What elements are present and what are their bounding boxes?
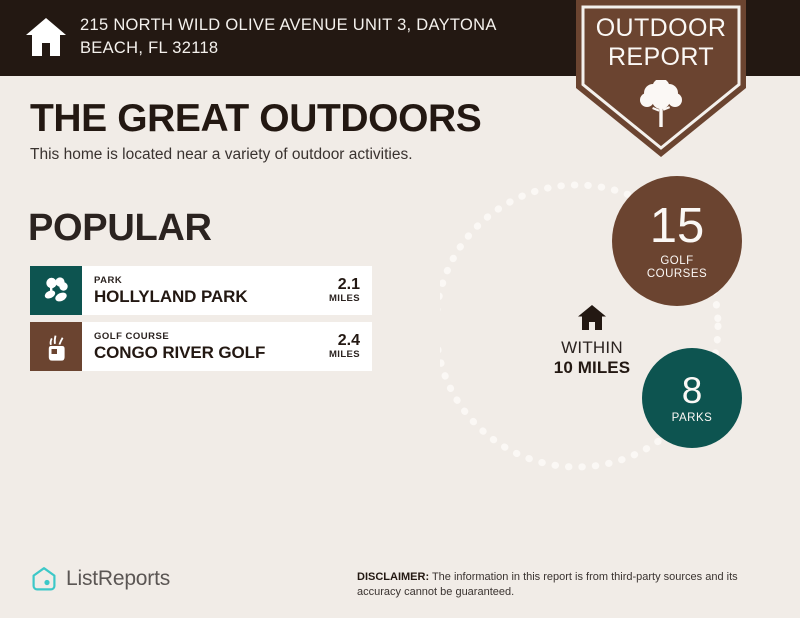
golf-bag-icon-box (30, 322, 82, 371)
list-item-distance: 2.1 MILES (310, 266, 372, 315)
listreports-house-icon (30, 565, 58, 593)
list-item-name: HOLLYLAND PARK (94, 287, 310, 306)
list-item[interactable]: PARK HOLLYLAND PARK 2.1 MILES (30, 266, 372, 315)
golf-bag-icon (41, 331, 71, 363)
list-item[interactable]: GOLF COURSE CONGO RIVER GOLF 2.4 MILES (30, 322, 372, 371)
stat-label: PARKS (672, 412, 713, 425)
park-trees-icon-box (30, 266, 82, 315)
stat-label: GOLF COURSES (647, 255, 707, 281)
stat-label-line2: COURSES (647, 268, 707, 281)
stat-label-line1: GOLF (647, 255, 707, 268)
home-icon (577, 304, 607, 331)
list-item-text: GOLF COURSE CONGO RIVER GOLF (82, 322, 310, 371)
within-radius-diagram: 15 GOLF COURSES 8 PARKS WITHIN 10 MILES (440, 176, 800, 476)
page-title: THE GREAT OUTDOORS (30, 97, 481, 141)
home-icon (24, 16, 68, 58)
badge-title-line2: REPORT (576, 43, 746, 72)
listreports-logo[interactable]: ListReports (30, 565, 170, 593)
park-trees-icon (41, 276, 71, 306)
list-item-distance-unit: MILES (329, 293, 360, 305)
radius-line1: WITHIN (512, 338, 672, 358)
list-item-category: PARK (94, 275, 310, 287)
list-item-distance-unit: MILES (329, 349, 360, 361)
list-item-text: PARK HOLLYLAND PARK (82, 266, 310, 315)
badge-title-line1: OUTDOOR (576, 14, 746, 43)
disclaimer-label: DISCLAIMER: (357, 571, 429, 583)
stat-count: 8 (682, 372, 703, 409)
list-item-distance: 2.4 MILES (310, 322, 372, 371)
badge-title: OUTDOOR REPORT (576, 14, 746, 72)
property-address: 215 NORTH WILD OLIVE AVENUE UNIT 3, DAYT… (80, 14, 550, 60)
stat-count: 15 (650, 202, 705, 251)
listreports-logo-text: ListReports (66, 567, 170, 591)
stat-bubble-golf-courses: 15 GOLF COURSES (612, 176, 742, 306)
popular-list: PARK HOLLYLAND PARK 2.1 MILES GOLF COURS… (30, 266, 372, 378)
list-item-distance-value: 2.4 (338, 332, 360, 349)
disclaimer: DISCLAIMER: The information in this repo… (357, 570, 777, 600)
radius-line2: 10 MILES (512, 358, 672, 378)
page-subtitle: This home is located near a variety of o… (30, 146, 413, 164)
popular-heading: POPULAR (28, 207, 212, 250)
radius-center-label: WITHIN 10 MILES (512, 304, 672, 378)
list-item-category: GOLF COURSE (94, 331, 310, 343)
tree-icon (640, 80, 682, 128)
list-item-distance-value: 2.1 (338, 276, 360, 293)
list-item-name: CONGO RIVER GOLF (94, 343, 310, 362)
outdoor-report-badge: OUTDOOR REPORT (576, 0, 746, 158)
